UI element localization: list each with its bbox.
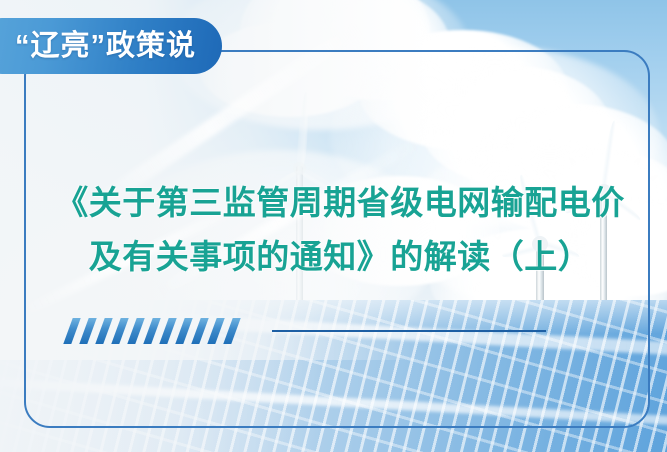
slash-mark bbox=[127, 318, 144, 344]
horizontal-rule bbox=[272, 330, 546, 332]
series-badge-label: “辽亮”政策说 bbox=[15, 32, 196, 61]
slash-mark bbox=[143, 318, 160, 344]
slash-mark bbox=[111, 318, 128, 344]
slash-decoration bbox=[68, 318, 236, 344]
policy-poster: “辽亮”政策说 《关于第三监管周期省级电网输配电价 及有关事项的通知》的解读（上… bbox=[0, 0, 667, 452]
page-title-line-2: 及有关事项的通知》的解读（上） bbox=[40, 230, 640, 284]
page-title: 《关于第三监管周期省级电网输配电价 及有关事项的通知》的解读（上） bbox=[40, 176, 640, 284]
slash-mark bbox=[79, 318, 96, 344]
series-badge[interactable]: “辽亮”政策说 bbox=[0, 18, 222, 74]
slash-mark bbox=[207, 318, 224, 344]
page-title-line-1: 《关于第三监管周期省级电网输配电价 bbox=[40, 176, 640, 230]
slash-mark bbox=[159, 318, 176, 344]
slash-mark bbox=[175, 318, 192, 344]
slash-mark bbox=[95, 318, 112, 344]
slash-mark bbox=[191, 318, 208, 344]
